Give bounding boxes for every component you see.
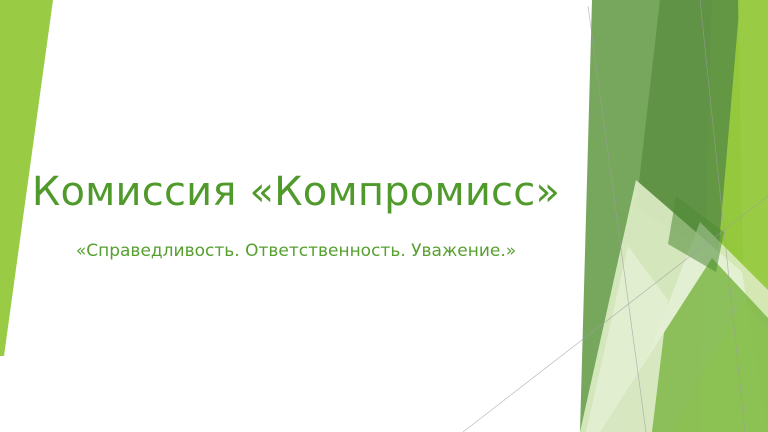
poly-bright-band xyxy=(738,0,768,300)
poly-dark-spear xyxy=(636,0,740,256)
right-polygon-cluster xyxy=(580,0,768,432)
poly-leaf-lower xyxy=(600,258,768,432)
presentation-slide: Комиссия «Компромисс» «Справедливость. О… xyxy=(0,0,768,432)
poly-pale-rise xyxy=(580,180,768,432)
poly-soft-bottom xyxy=(672,300,768,432)
slide-subtitle: «Справедливость. Ответственность. Уважен… xyxy=(76,241,524,261)
poly-light-sheet xyxy=(618,222,768,432)
title-text-block: Комиссия «Компромисс» «Справедливость. О… xyxy=(0,0,600,432)
slide-title: Комиссия «Компромисс» xyxy=(32,170,568,215)
hairline-right-diagonal xyxy=(700,0,745,432)
poly-dark-accent xyxy=(668,196,724,272)
poly-base-bright xyxy=(612,0,768,432)
